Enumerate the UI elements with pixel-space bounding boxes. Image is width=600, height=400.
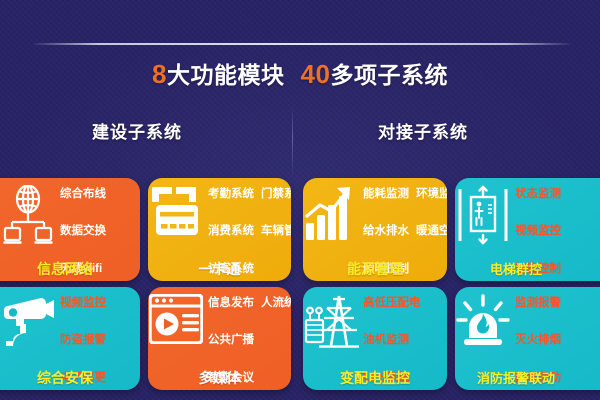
module-card-integrated-security[interactable]: 视频监控防盗报警电子巡更综合安保 xyxy=(0,287,140,390)
cctv-camera-icon xyxy=(0,287,56,348)
module-item[interactable]: 消费系统 xyxy=(208,226,254,238)
module-item-row: 油机监测 xyxy=(363,335,443,347)
module-item[interactable]: 人流统计 xyxy=(261,298,291,310)
module-item[interactable]: 高低压配电 xyxy=(363,298,421,310)
module-item-row: 能耗监测环境监测 xyxy=(363,189,447,201)
module-item[interactable]: 监测报警 xyxy=(515,298,561,310)
module-item[interactable]: 数据交换 xyxy=(60,226,106,238)
module-item[interactable]: 视频监控 xyxy=(515,226,561,238)
module-item[interactable]: 油机监测 xyxy=(363,335,409,347)
module-item-row: 给水排水暖通空调 xyxy=(363,226,447,238)
module-item-row: 高低压配电 xyxy=(363,298,443,310)
module-card-power-distribution-monitoring[interactable]: 高低压配电油机监测UPS系统变配电监控 xyxy=(303,287,447,390)
module-item[interactable]: 信息发布 xyxy=(208,298,254,310)
fire-alarm-icon xyxy=(455,287,511,348)
module-item-row: 信息发布人流统计 xyxy=(208,298,291,310)
module-item[interactable]: 公共广播 xyxy=(208,335,254,347)
module-label-multimedia: 多媒体 xyxy=(148,371,291,386)
poster-canvas: 8大功能模块40多项子系统 建设子系统 对接子系统 综合布线数据交换无线wifi… xyxy=(0,0,600,400)
module-item-row: 消费系统车辆管理 xyxy=(208,226,291,238)
globe-network-icon xyxy=(0,178,56,247)
module-card-elevator-group-control[interactable]: 状态监测视频监控智能控制电梯群控 xyxy=(455,178,600,281)
module-label-fire-alarm-linkage: 消防报警联动 xyxy=(455,372,579,386)
module-card-multimedia[interactable]: 信息发布人流统计公共广播智能会议多媒体 xyxy=(148,287,291,390)
module-card-energy-management[interactable]: 能耗监测环境监测给水排水暖通空调照明控制能源管理 xyxy=(303,178,447,281)
module-item-row: 灭火排烟 xyxy=(515,335,600,347)
module-item[interactable]: 视频监控 xyxy=(60,298,106,310)
module-item-row: 公共广播 xyxy=(208,335,291,347)
module-item[interactable]: 综合布线 xyxy=(60,189,106,201)
module-label-power-distribution-monitoring: 变配电监控 xyxy=(303,371,447,386)
module-label-info-network: 信息网络 xyxy=(0,262,140,277)
module-item-row: 考勤系统门禁系统 xyxy=(208,189,291,201)
module-card-one-card-pass[interactable]: 考勤系统门禁系统消费系统车辆管理访客系统一卡通 xyxy=(148,178,291,281)
module-label-integrated-security: 综合安保 xyxy=(0,371,140,386)
elevator-icon xyxy=(455,178,511,245)
module-item[interactable]: 暖通空调 xyxy=(416,226,447,238)
module-item-row: 防盗报警 xyxy=(60,335,136,347)
module-item-row: 状态监测 xyxy=(515,189,600,201)
module-card-info-network[interactable]: 综合布线数据交换无线wifi信息网络 xyxy=(0,178,140,281)
module-item-row: 数据交换 xyxy=(60,226,136,238)
module-item[interactable]: 能耗监测 xyxy=(363,189,409,201)
module-card-grid: 综合布线数据交换无线wifi信息网络 考勤系统门禁系统消费系统车辆管理访客系统一… xyxy=(0,0,600,400)
module-item[interactable]: 灭火排烟 xyxy=(515,335,561,347)
module-item[interactable]: 门禁系统 xyxy=(261,189,291,201)
smart-card-icon xyxy=(148,178,204,239)
module-label-one-card-pass: 一卡通 xyxy=(148,262,291,277)
module-item[interactable]: 环境监测 xyxy=(416,189,447,201)
bar-chart-growth-icon xyxy=(303,178,359,241)
power-pylon-icon xyxy=(303,287,359,348)
media-player-window-icon xyxy=(148,287,204,344)
module-item[interactable]: 防盗报警 xyxy=(60,335,106,347)
module-label-energy-management: 能源管理 xyxy=(303,262,447,277)
module-item[interactable]: 给水排水 xyxy=(363,226,409,238)
module-item-row: 综合布线 xyxy=(60,189,136,201)
module-label-elevator-group-control: 电梯群控 xyxy=(455,263,579,277)
module-item-row: 视频监控 xyxy=(60,298,136,310)
module-item[interactable]: 状态监测 xyxy=(515,189,561,201)
module-card-fire-alarm-linkage[interactable]: 监测报警灭火排烟应急联动消防报警联动 xyxy=(455,287,600,390)
module-item-row: 监测报警 xyxy=(515,298,600,310)
module-item[interactable]: 车辆管理 xyxy=(261,226,291,238)
module-item[interactable]: 考勤系统 xyxy=(208,189,254,201)
module-item-row: 视频监控 xyxy=(515,226,600,238)
